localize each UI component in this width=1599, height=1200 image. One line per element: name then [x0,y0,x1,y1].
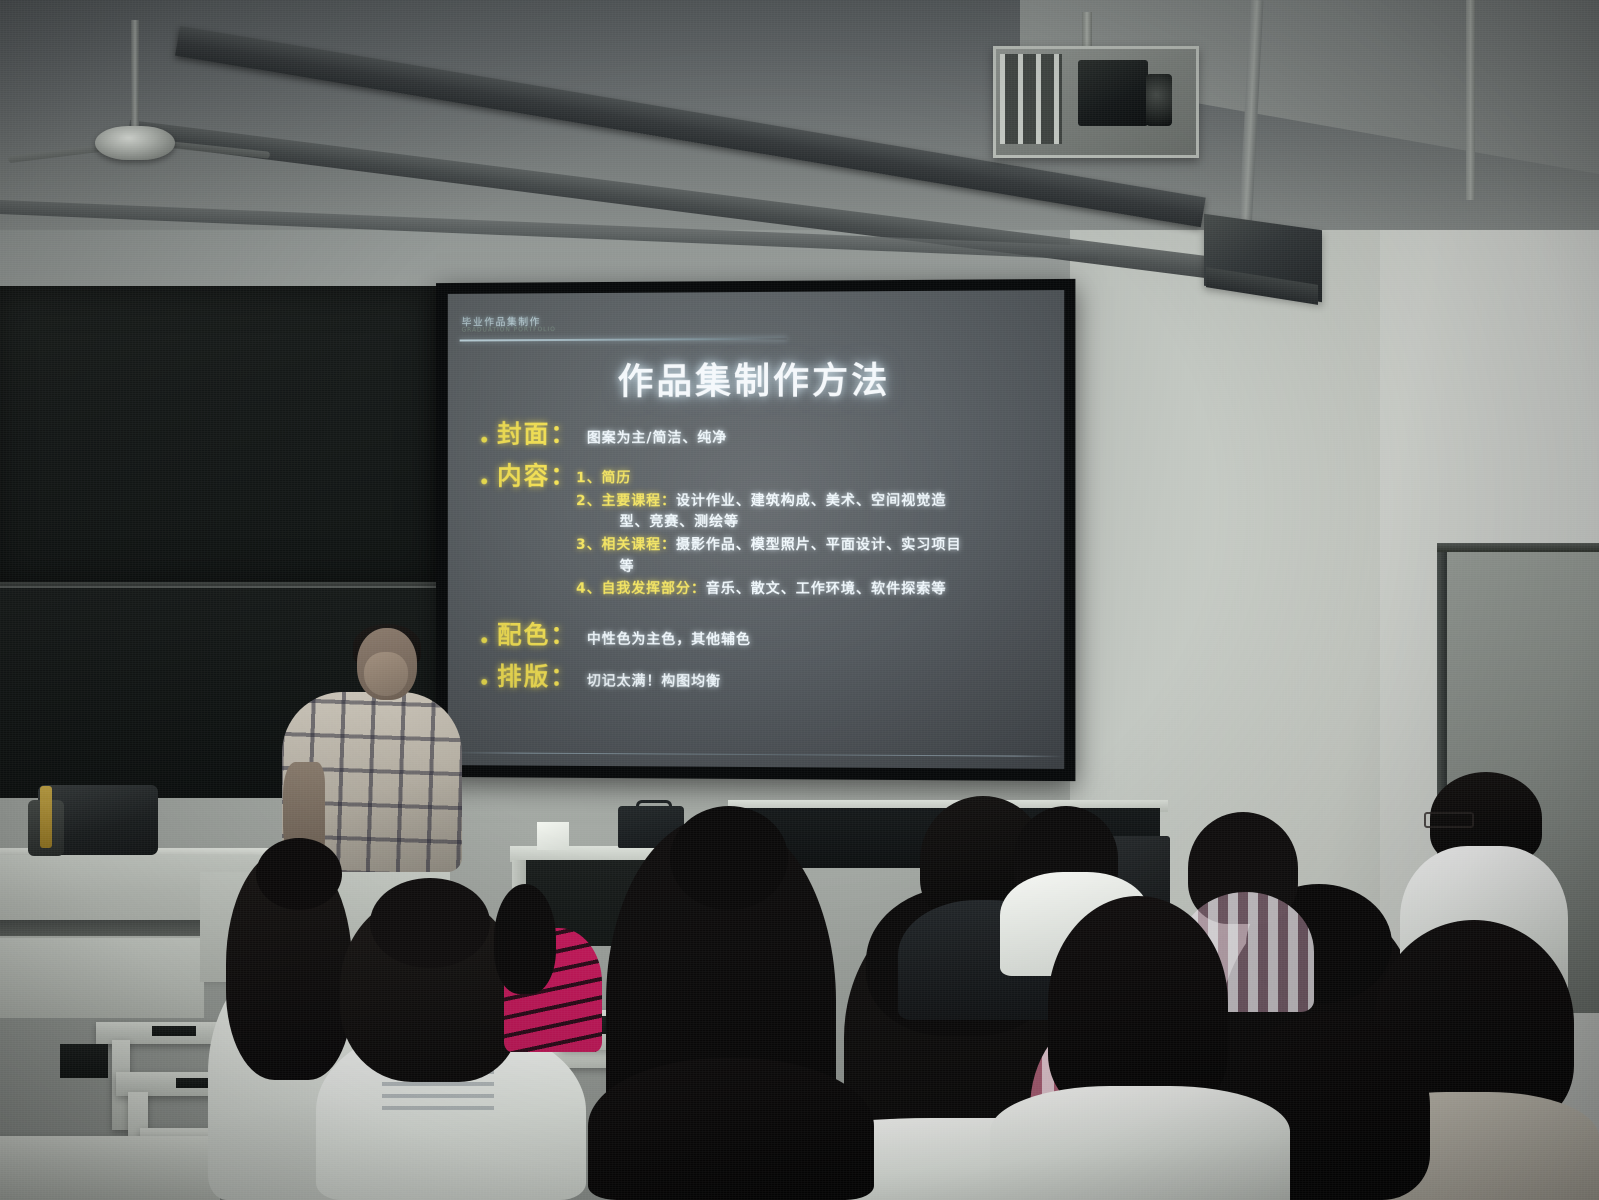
bullet-key: 排版 [497,657,550,693]
bullet-dot-icon [481,478,487,484]
projector-icon [1078,60,1148,126]
lab-desk-front [0,1136,220,1200]
projection-screen[interactable]: 毕业作品集制作 GRADUATION PORTFOLIO 作品集制作方法 封面 … [436,279,1075,781]
classroom-photo: 毕业作品集制作 GRADUATION PORTFOLIO 作品集制作方法 封面 … [0,0,1599,1200]
bullet-value: 中性色为主色，其他辅色 [587,629,751,649]
slide-subitem: 1、简历 [576,468,1048,490]
ceiling-fan-rod-icon [131,20,139,132]
slide-bullet-layout: 排版 ： 切记太满！构图均衡 [481,657,1048,695]
bullet-separator: ： [550,657,577,693]
bullet-dot-icon [481,637,487,643]
slide-title: 作品集制作方法 [448,351,1064,406]
slide-subitem: 2、主要课程：设计作业、建筑构成、美术、空间视觉造 型、竞赛、测绘等 [576,490,1048,534]
door-header-icon [1437,543,1599,552]
subitem-number: 4、 [576,581,601,597]
audience-hair [1048,896,1228,1110]
front-desk-shelf [0,920,204,936]
white-box [537,822,569,850]
slide-bullet-cover: 封面 ： 图案为主/简洁、纯净 [481,413,1048,450]
projection-screen-surface: 毕业作品集制作 GRADUATION PORTFOLIO 作品集制作方法 封面 … [448,290,1064,769]
audience-head [670,806,788,910]
audience-hair [588,1058,874,1200]
glasses-icon [1424,812,1474,828]
equipment-bag-strap-icon [40,786,52,848]
slide-header-rule [460,338,787,342]
subitem-label: 相关课程： [602,537,676,553]
subitem-label: 简历 [602,470,632,486]
audience-body [990,1086,1290,1200]
audience-head [370,878,490,968]
subitem-number: 2、 [576,493,601,509]
subitem-text: 摄影作品、模型照片、平面设计、实习项目 [676,537,962,553]
bullet-separator: ： [550,456,577,492]
front-desk-panel [0,938,204,1018]
bullet-key: 内容 [497,456,550,492]
ceiling-fan-icon [95,126,175,160]
bullet-separator: ： [550,415,577,451]
blackboard [0,286,440,586]
projector-lens-icon [1146,74,1172,126]
slide-footer-rule [448,752,1064,757]
slide-subitem: 4、自我发挥部分：音乐、散文、工作环境、软件探索等 [576,579,1048,601]
slide-header-subtext: GRADUATION PORTFOLIO [462,326,556,333]
bullet-dot-icon [481,437,487,443]
slide-spacer [481,602,1048,617]
bullet-value: 切记太满！构图均衡 [587,670,721,690]
bullet-value: 图案为主/简洁、纯净 [587,427,727,447]
subitem-continuation: 型、竞赛、测绘等 [620,512,1048,534]
bullet-key: 封面 [497,415,550,451]
slide-bullet-palette: 配色 ： 中性色为主色，其他辅色 [481,615,1048,653]
bullet-key: 配色 [497,616,550,652]
lab-desk-shadow [60,1044,108,1078]
subitem-number: 3、 [576,537,601,553]
subitem-label: 主要课程： [602,493,676,509]
subitem-text: 音乐、散文、工作环境、软件探索等 [706,581,947,597]
slide-subitem: 3、相关课程：摄影作品、模型照片、平面设计、实习项目 等 [576,535,1048,579]
audience-hair [494,884,556,994]
subitem-continuation: 等 [620,557,1048,579]
projector-cage-bars-icon [1000,54,1062,144]
bullet-separator: ： [550,616,577,652]
ceiling-pipe-right-icon [1466,0,1475,200]
subitem-number: 1、 [576,470,601,486]
presenter-face [364,652,408,696]
subitem-text: 设计作业、建筑构成、美术、空间视觉造 [676,492,947,508]
slide-body: 封面 ： 图案为主/简洁、纯净 内容 ： 1、简历 2、主要课程：设计作业、建筑… [481,413,1048,701]
audience-head [256,838,342,910]
desk-slot-icon [152,1026,196,1036]
bullet-dot-icon [481,679,487,685]
subitem-label: 自我发挥部分： [602,581,706,597]
